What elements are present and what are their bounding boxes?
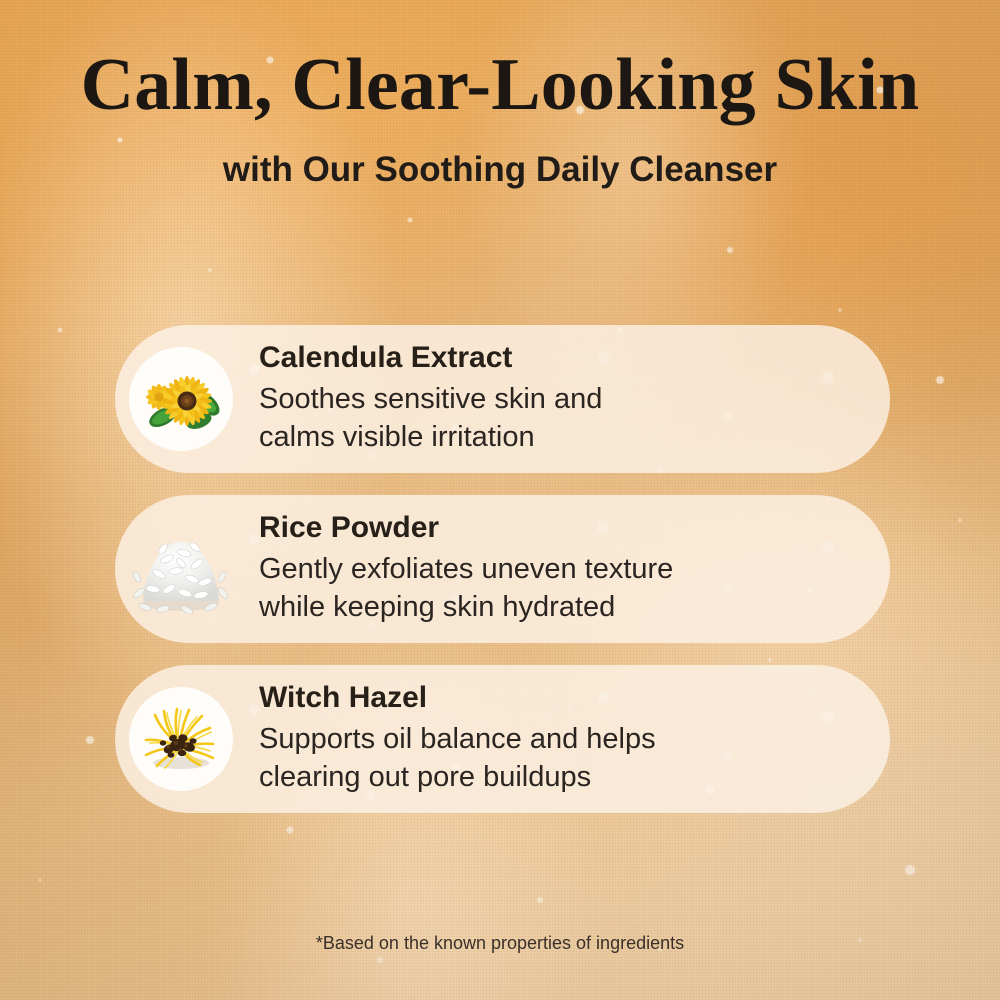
calendula-flower-icon [133, 351, 229, 447]
card-text: Rice Powder Gently exfoliates uneven tex… [247, 512, 673, 626]
ingredient-card-rice-powder: Rice Powder Gently exfoliates uneven tex… [115, 495, 890, 643]
ingredient-description: Gently exfoliates uneven texture while k… [259, 550, 673, 626]
ingredient-description: Soothes sensitive skin and calms visible… [259, 380, 602, 456]
infographic-poster: Calm, Clear-Looking Skin with Our Soothi… [0, 0, 1000, 1000]
desc-line: Supports oil balance and helps [259, 720, 656, 758]
icon-disc [129, 687, 233, 791]
ingredient-name: Rice Powder [259, 512, 673, 544]
icon-container [115, 495, 247, 643]
ingredient-name: Calendula Extract [259, 342, 602, 374]
desc-line: Soothes sensitive skin and [259, 380, 602, 418]
rice-powder-icon [129, 519, 233, 619]
page-subtitle: with Our Soothing Daily Cleanser [0, 152, 1000, 187]
ingredient-card-calendula: Calendula Extract Soothes sensitive skin… [115, 325, 890, 473]
ingredient-card-list: Calendula Extract Soothes sensitive skin… [115, 325, 890, 813]
card-text: Calendula Extract Soothes sensitive skin… [247, 342, 602, 456]
ingredient-description: Supports oil balance and helps clearing … [259, 720, 656, 796]
icon-disc [129, 517, 233, 621]
card-text: Witch Hazel Supports oil balance and hel… [247, 682, 656, 796]
desc-line: clearing out pore buildups [259, 758, 656, 796]
witch-hazel-flower-icon [133, 691, 229, 787]
icon-container [115, 665, 247, 813]
ingredient-name: Witch Hazel [259, 682, 656, 714]
desc-line: Gently exfoliates uneven texture [259, 550, 673, 588]
footnote-disclaimer: *Based on the known properties of ingred… [0, 933, 1000, 954]
icon-container [115, 325, 247, 473]
header: Calm, Clear-Looking Skin with Our Soothi… [0, 48, 1000, 187]
icon-disc [129, 347, 233, 451]
desc-line: calms visible irritation [259, 418, 602, 456]
ingredient-card-witch-hazel: Witch Hazel Supports oil balance and hel… [115, 665, 890, 813]
desc-line: while keeping skin hydrated [259, 588, 673, 626]
page-title: Calm, Clear-Looking Skin [0, 48, 1000, 122]
